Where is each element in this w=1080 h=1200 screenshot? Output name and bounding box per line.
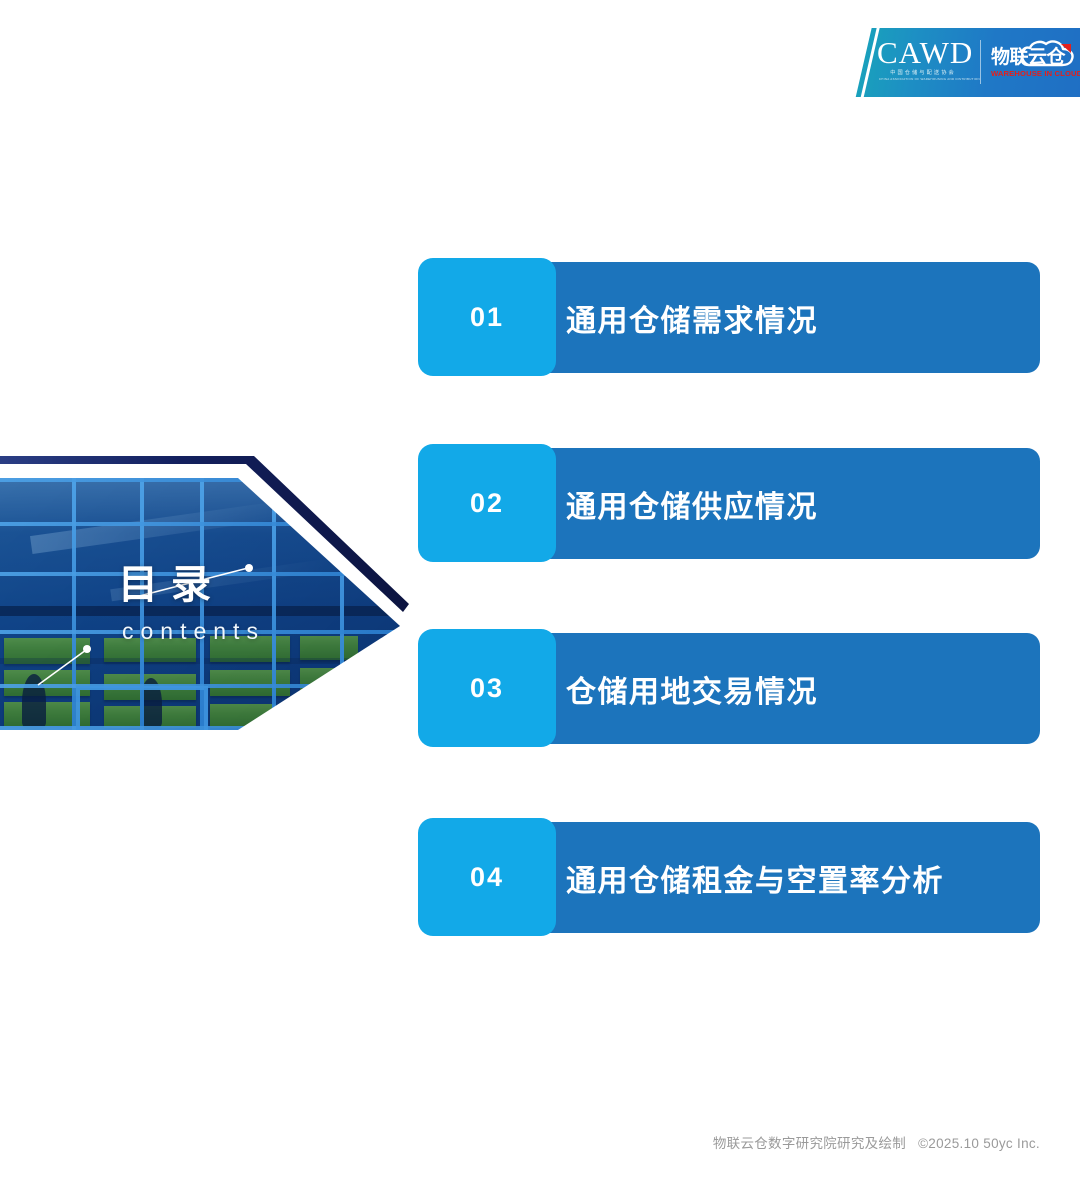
agenda-item-04[interactable]: 04 通用仓储租金与空置率分析 — [418, 815, 1040, 935]
cawd-english-name: CHINA ASSOCIATION OF WAREHOUSING AND DIS… — [879, 77, 967, 82]
agenda-item-03[interactable]: 03 仓储用地交易情况 — [418, 626, 1040, 746]
agenda-item-number: 01 — [470, 302, 504, 332]
agenda-item-label: 通用仓储需求情况 — [566, 255, 818, 380]
agenda-item-number-chip: 04 — [418, 818, 556, 936]
cawd-abbr: CAWD — [877, 36, 969, 70]
agenda-list: 01 通用仓储需求情况 02 通用仓储供应情况 03 仓储用地交易情况 04 通… — [418, 255, 1043, 945]
agenda-item-number-chip: 03 — [418, 629, 556, 747]
wic-logo: 物联云仓 WAREHOUSE IN CLOUD — [991, 38, 1075, 88]
agenda-item-label: 通用仓储供应情况 — [566, 441, 818, 566]
wic-english-name: WAREHOUSE IN CLOUD — [991, 69, 1075, 79]
logo-divider — [980, 40, 981, 84]
agenda-item-number-chip: 02 — [418, 444, 556, 562]
agenda-item-02[interactable]: 02 通用仓储供应情况 — [418, 441, 1040, 561]
footer-credit: 物联云仓数字研究院研究及绘制 — [713, 1136, 906, 1151]
agenda-item-number: 03 — [470, 673, 504, 703]
wic-chinese-name: 物联云仓 — [991, 47, 1075, 68]
agenda-item-label: 仓储用地交易情况 — [566, 626, 818, 751]
warehouse-photo — [0, 478, 400, 730]
cawd-chinese-name: 中国仓储与配送协会 — [877, 70, 969, 77]
agenda-item-number: 04 — [470, 862, 504, 892]
footer: 物联云仓数字研究院研究及绘制©2025.10 50yc Inc. — [0, 1132, 1040, 1152]
toc-badge: 目录 contents — [0, 450, 420, 750]
agenda-item-number-chip: 01 — [418, 258, 556, 376]
cawd-logo: CAWD 中国仓储与配送协会 CHINA ASSOCIATION OF WARE… — [877, 36, 969, 82]
agenda-item-01[interactable]: 01 通用仓储需求情况 — [418, 255, 1040, 375]
agenda-item-label: 通用仓储租金与空置率分析 — [566, 815, 944, 940]
footer-copyright: ©2025.10 50yc Inc. — [918, 1136, 1040, 1151]
agenda-item-number: 02 — [470, 488, 504, 518]
brand-logo-banner: CAWD 中国仓储与配送协会 CHINA ASSOCIATION OF WARE… — [843, 28, 1080, 97]
